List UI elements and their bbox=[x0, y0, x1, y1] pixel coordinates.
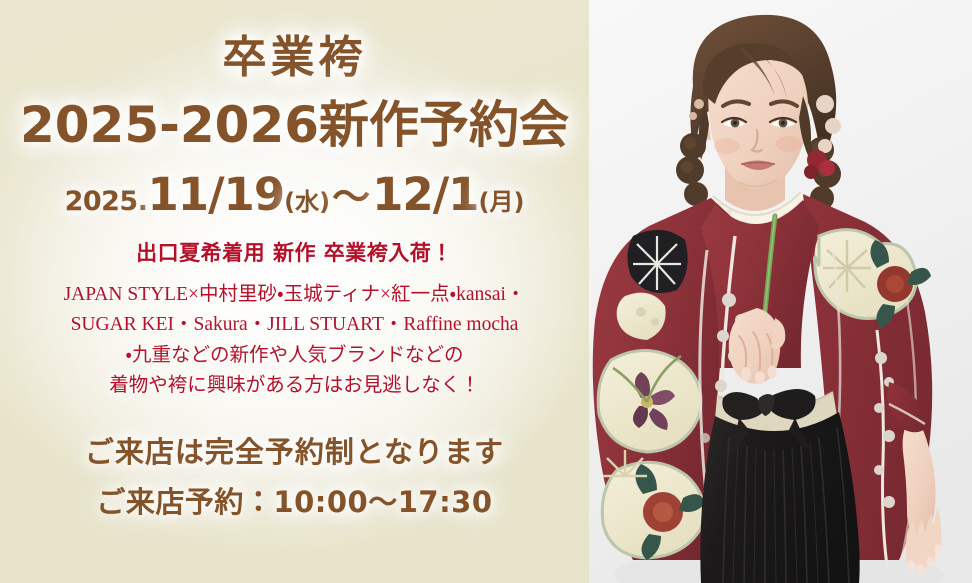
text-panel: 卒業袴 2025-2026新作予約会 2025.11/19(水)〜12/1(月)… bbox=[0, 0, 589, 583]
promo-text-block: 出口夏希着用 新作 卒業袴入荷！ JAPAN STYLE×中村里砂・玉城ティナ×… bbox=[64, 241, 526, 401]
brand-list-line: SUGAR KEI・Sakura・JILL STUART・Raffine moc… bbox=[64, 310, 526, 340]
page-title-primary: 卒業袴 bbox=[223, 36, 367, 80]
date-end-weekday: (月) bbox=[478, 188, 524, 216]
date-start-weekday: (水) bbox=[284, 188, 330, 216]
brand-list-line: JAPAN STYLE×中村里砂・玉城ティナ×紅一点・kansai・ bbox=[64, 280, 526, 310]
promo-headline: 出口夏希着用 新作 卒業袴入荷！ bbox=[64, 241, 526, 266]
model-photo-illustration bbox=[589, 0, 972, 583]
date-start: 11/19 bbox=[147, 168, 284, 221]
page-title-secondary: 2025-2026新作予約会 bbox=[20, 100, 569, 150]
date-end: 12/1 bbox=[372, 168, 478, 221]
promo-banner: 卒業袴 2025-2026新作予約会 2025.11/19(水)〜12/1(月)… bbox=[0, 0, 972, 583]
reservation-block: ご来店は完全予約制となります ご来店予約：10:00〜17:30 bbox=[85, 431, 504, 523]
date-year: 2025. bbox=[65, 186, 148, 217]
reservation-policy: ご来店は完全予約制となります bbox=[85, 431, 504, 473]
model-photo bbox=[589, 0, 972, 583]
brand-list: JAPAN STYLE×中村里砂・玉城ティナ×紅一点・kansai・ SUGAR… bbox=[64, 280, 526, 401]
date-range-tilde: 〜 bbox=[330, 175, 372, 219]
reservation-hours: ご来店予約：10:00〜17:30 bbox=[85, 481, 504, 523]
brand-list-line: ・九重などの新作や人気ブランドなどの bbox=[64, 341, 526, 371]
brand-list-line: 着物や袴に興味がある方はお見逃しなく！ bbox=[64, 371, 526, 401]
event-date-range: 2025.11/19(水)〜12/1(月) bbox=[65, 172, 525, 217]
